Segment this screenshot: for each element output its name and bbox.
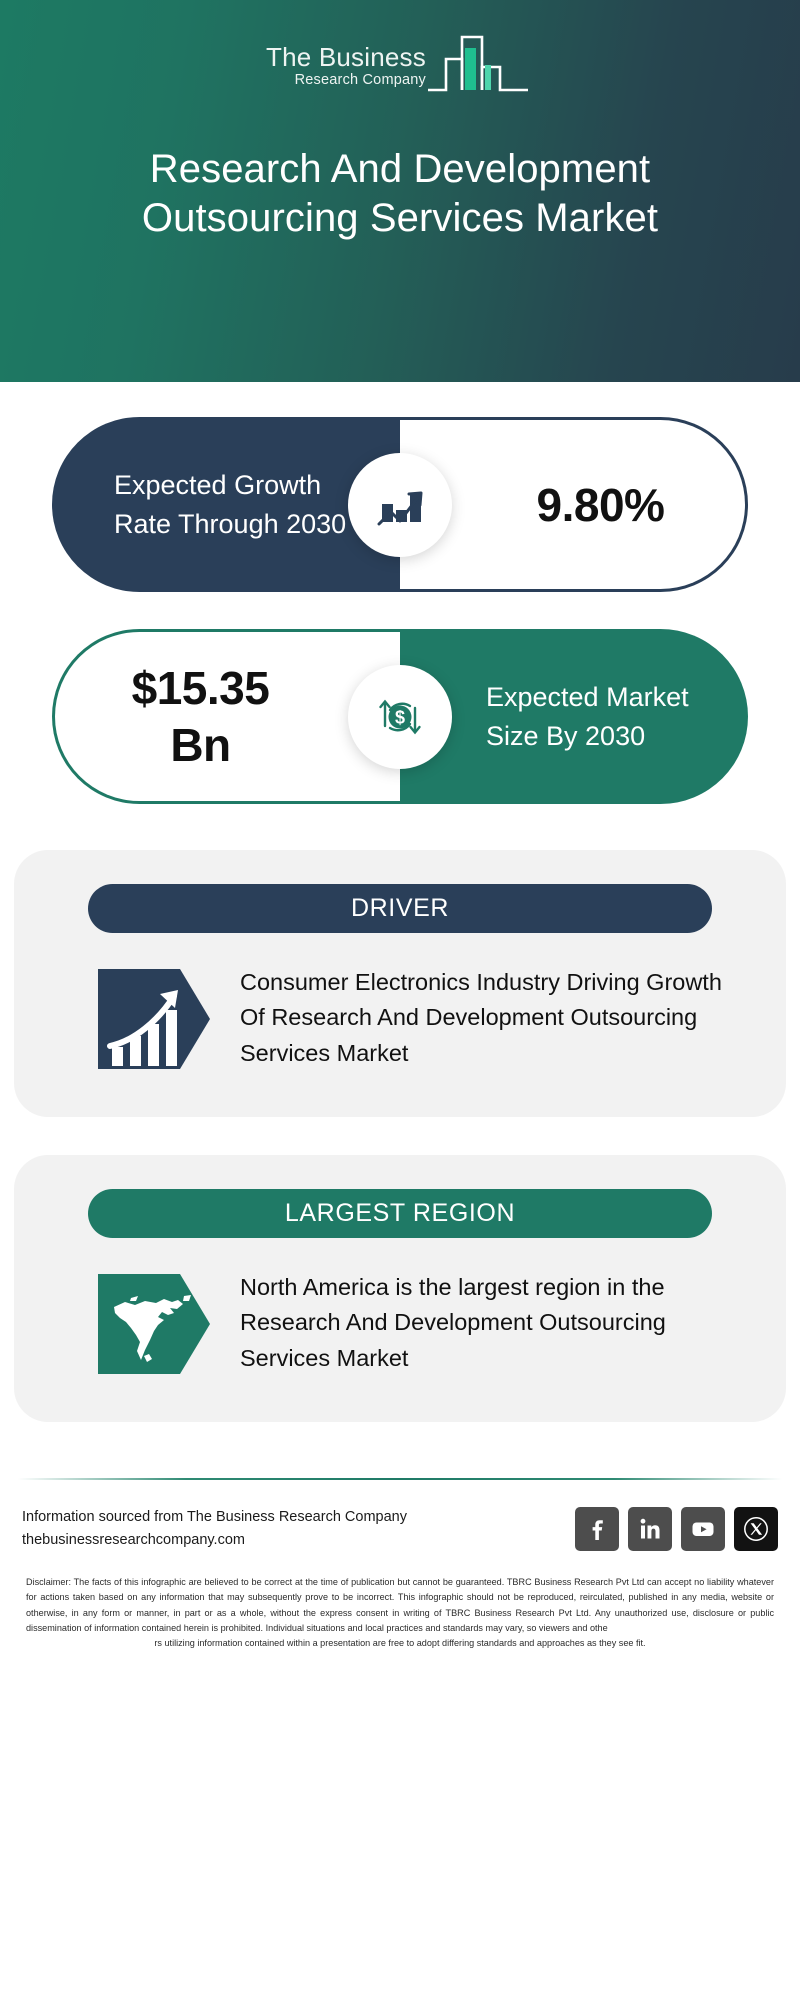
linkedin-icon[interactable] bbox=[628, 1507, 672, 1551]
footer-bar: Information sourced from The Business Re… bbox=[0, 1480, 800, 1553]
growth-value-panel: 9.80% bbox=[400, 417, 748, 592]
growth-chart-arrow-icon bbox=[369, 474, 431, 536]
expected-growth-rate-stat: Expected Growth Rate Through 2030 9.80% bbox=[52, 417, 748, 592]
social-links bbox=[575, 1507, 778, 1551]
disclaimer-main: Disclaimer: The facts of this infographi… bbox=[26, 1577, 774, 1633]
disclaimer-text: Disclaimer: The facts of this infographi… bbox=[26, 1575, 774, 1651]
region-text: North America is the largest region in t… bbox=[240, 1268, 728, 1376]
size-value-line1: $15.35 bbox=[132, 662, 270, 714]
growth-icon-badge bbox=[348, 453, 452, 557]
youtube-icon[interactable] bbox=[681, 1507, 725, 1551]
footer-source-line1: Information sourced from The Business Re… bbox=[22, 1506, 407, 1529]
footer-source-line2[interactable]: thebusinessresearchcompany.com bbox=[22, 1529, 407, 1552]
footer-source: Information sourced from The Business Re… bbox=[22, 1506, 407, 1553]
driver-caption: DRIVER bbox=[88, 884, 712, 933]
facebook-icon[interactable] bbox=[575, 1507, 619, 1551]
size-label: Expected Market Size By 2030 bbox=[400, 678, 748, 755]
bar-chart-logo-mark bbox=[424, 26, 534, 98]
page-title: Research And Development Outsourcing Ser… bbox=[0, 145, 800, 243]
header-banner: The Business Research Company Research A… bbox=[0, 0, 800, 382]
size-label-panel: Expected Market Size By 2030 bbox=[400, 629, 748, 804]
size-value: $15.35 Bn bbox=[132, 660, 324, 772]
region-caption: LARGEST REGION bbox=[88, 1189, 712, 1238]
dollar-circulation-icon: $ bbox=[369, 686, 431, 748]
logo-secondary-text: Research Company bbox=[266, 70, 426, 92]
size-icon-badge: $ bbox=[348, 665, 452, 769]
size-value-line2: Bn bbox=[170, 719, 230, 771]
ascending-bars-arrow-icon bbox=[98, 963, 210, 1075]
driver-text: Consumer Electronics Industry Driving Gr… bbox=[240, 963, 728, 1071]
largest-region-card: LARGEST REGION North America is the larg… bbox=[14, 1155, 786, 1422]
x-twitter-icon[interactable] bbox=[734, 1507, 778, 1551]
svg-text:$: $ bbox=[395, 707, 405, 727]
growth-value: 9.80% bbox=[481, 478, 665, 532]
expected-market-size-stat: $15.35 Bn Expected Market Size By 2030 $ bbox=[52, 629, 748, 804]
logo-primary-text: The Business bbox=[266, 44, 426, 70]
north-america-map-icon bbox=[98, 1268, 210, 1380]
company-logo: The Business Research Company bbox=[0, 26, 800, 98]
disclaimer-last: rs utilizing information contained withi… bbox=[26, 1636, 774, 1651]
driver-card: DRIVER Consumer Electronics Industry Dri… bbox=[14, 850, 786, 1117]
